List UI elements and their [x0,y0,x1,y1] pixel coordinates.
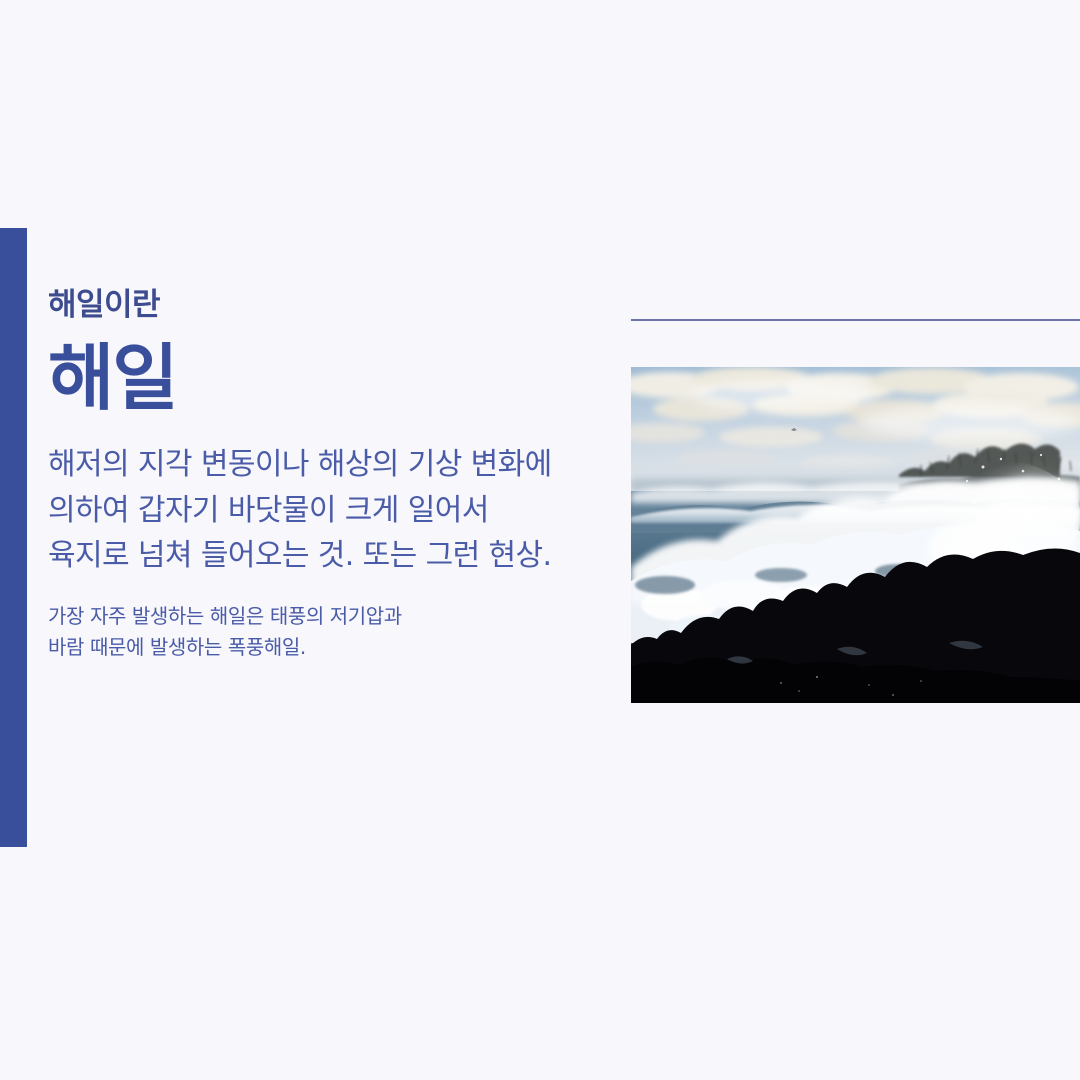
note-paragraph: 가장 자주 발생하는 해일은 태풍의 저기압과 바람 때문에 발생하는 폭풍해일… [48,579,628,663]
text-column: 해일이란 해일 해저의 지각 변동이나 해상의 기상 변화에 의하여 갑자기 바… [48,288,628,663]
eyebrow-heading: 해일이란 [48,288,628,324]
slide-canvas: 해일이란 해일 해저의 지각 변동이나 해상의 기상 변화에 의하여 갑자기 바… [0,0,1080,1080]
horizontal-divider [631,319,1080,321]
definition-paragraph: 해저의 지각 변동이나 해상의 기상 변화에 의하여 갑자기 바닷물이 크게 일… [48,416,628,579]
left-accent-bar [0,228,27,847]
storm-wave-photo [631,367,1080,703]
page-title: 해일 [48,324,628,417]
storm-wave-illustration [631,367,1080,703]
